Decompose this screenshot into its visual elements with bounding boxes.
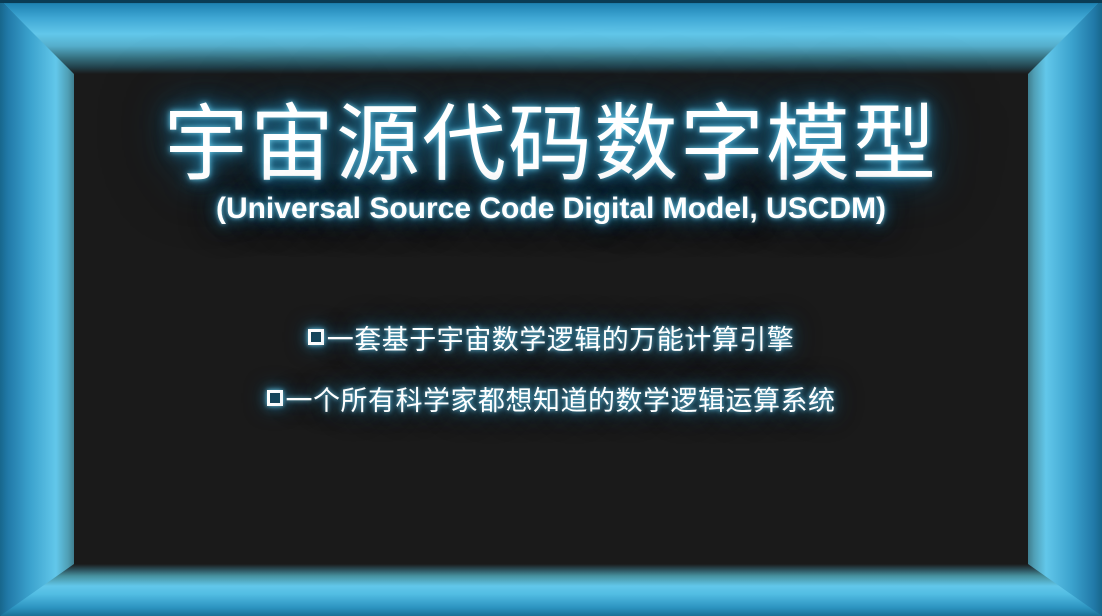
hollow-square-bullet-icon bbox=[308, 329, 324, 345]
frame-border-top bbox=[0, 0, 1102, 74]
frame-edge-highlight bbox=[0, 0, 1102, 3]
frame-border-left bbox=[0, 0, 74, 616]
slide-subtitle: (Universal Source Code Digital Model, US… bbox=[74, 192, 1028, 226]
bullet-item-label: 一套基于宇宙数学逻辑的万能计算引擎 bbox=[327, 318, 795, 357]
list-item: 一套基于宇宙数学逻辑的万能计算引擎 bbox=[308, 318, 795, 357]
slide-content-area: 宇宙源代码数字模型 (Universal Source Code Digital… bbox=[74, 74, 1028, 564]
hollow-square-bullet-icon bbox=[267, 390, 283, 406]
presentation-slide: 宇宙源代码数字模型 (Universal Source Code Digital… bbox=[0, 0, 1102, 616]
bullet-list: 一套基于宇宙数学逻辑的万能计算引擎 一个所有科学家都想知道的数学逻辑运算系统 bbox=[74, 318, 1028, 418]
bullet-item-label: 一个所有科学家都想知道的数学逻辑运算系统 bbox=[286, 379, 836, 418]
frame-border-right bbox=[1028, 0, 1102, 616]
list-item: 一个所有科学家都想知道的数学逻辑运算系统 bbox=[267, 379, 836, 418]
title-block: 宇宙源代码数字模型 (Universal Source Code Digital… bbox=[74, 102, 1028, 226]
slide-main-title: 宇宙源代码数字模型 bbox=[74, 102, 1028, 188]
frame-border-bottom bbox=[0, 564, 1102, 616]
